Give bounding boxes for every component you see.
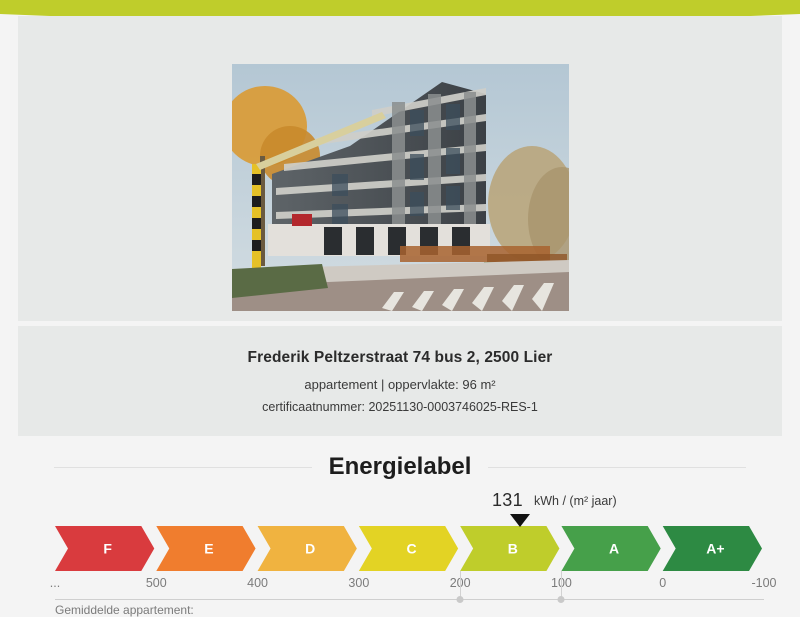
energy-label-section: Energielabel 131 kWh / (m² jaar) FEDCBAA…	[18, 436, 782, 600]
property-info-panel: Frederik Peltzerstraat 74 bus 2, 2500 Li…	[18, 326, 782, 436]
energy-value: 131	[492, 490, 523, 511]
average-apartment-caption: Gemiddelde appartement:	[55, 603, 194, 617]
energy-heading: Energielabel	[312, 453, 489, 481]
energy-band-label: B	[508, 541, 518, 557]
scale-tick-label: 500	[146, 576, 167, 590]
scale-tick-label: 400	[247, 576, 268, 590]
heading-rule-left	[54, 467, 312, 468]
scale-tick-label: ...	[50, 576, 60, 590]
scale-tick-mark	[561, 571, 562, 599]
energy-value-row: 131 kWh / (m² jaar)	[18, 490, 782, 512]
energy-unit: kWh / (m² jaar)	[534, 494, 617, 508]
certificate-card: Frederik Peltzerstraat 74 bus 2, 2500 Li…	[18, 16, 782, 600]
energy-band-label: F	[103, 541, 112, 557]
scale-tick-mark	[460, 571, 461, 599]
scale-tick-label: -100	[751, 576, 776, 590]
energy-heading-row: Energielabel	[18, 450, 782, 484]
energy-label-bands: FEDCBAA+	[55, 526, 764, 571]
energy-scale: ...5004003002001000-100	[55, 576, 764, 600]
energy-label-bands-svg: FEDCBAA+	[55, 526, 764, 571]
certificate-number: certificaatnummer: 20251130-0003746025-R…	[18, 400, 782, 414]
property-photo-panel	[18, 16, 782, 321]
heading-rule-right	[488, 467, 746, 468]
scale-tick-label: 300	[348, 576, 369, 590]
energy-band-label: E	[204, 541, 213, 557]
scale-tick-label: 0	[659, 576, 666, 590]
energy-band-label: D	[305, 541, 315, 557]
property-photo	[232, 64, 569, 311]
property-type-and-area: appartement | oppervlakte: 96 m²	[18, 377, 782, 392]
energy-band-label: C	[406, 541, 416, 557]
energy-band-label: A	[609, 541, 619, 557]
energy-value-pointer-icon	[510, 514, 530, 527]
energy-band-label: A+	[706, 541, 724, 557]
property-address: Frederik Peltzerstraat 74 bus 2, 2500 Li…	[18, 349, 782, 367]
